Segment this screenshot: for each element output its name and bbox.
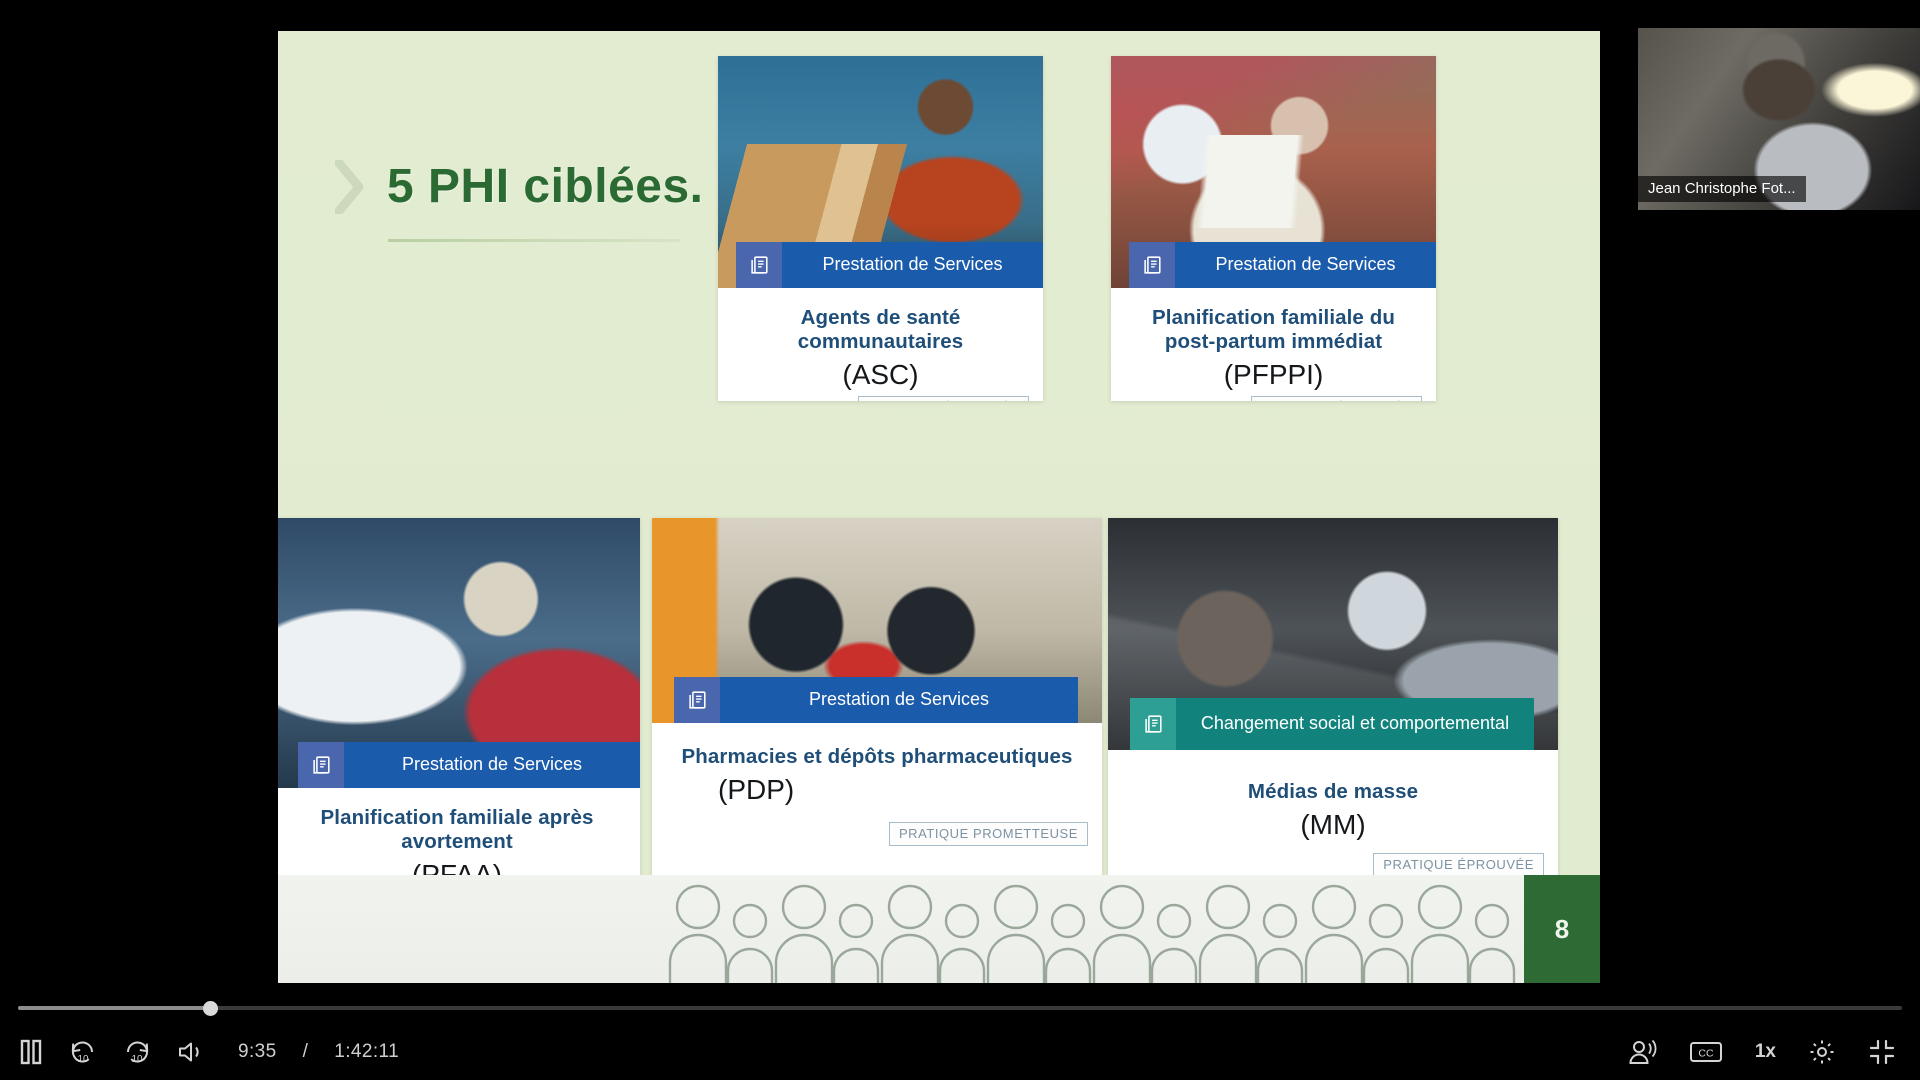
documents-icon <box>1129 242 1175 288</box>
card-photo: Prestation de Services <box>278 518 640 788</box>
card-tag-row: PRATIQUE PROMETTEUSE <box>666 822 1088 846</box>
card-category-badge: Prestation de Services <box>674 677 1078 723</box>
total-time: 1:42:11 <box>334 1041 399 1063</box>
video-player-stage: 5 PHI ciblées. Prestation de Services <box>0 0 1920 1080</box>
slide-title-row: 5 PHI ciblées. <box>335 159 704 214</box>
presentation-slide: 5 PHI ciblées. Prestation de Services <box>278 31 1600 983</box>
card-body: Pharmacies et dépôts pharmaceutiques (PD… <box>652 723 1102 856</box>
card-body: Médias de masse (MM) PRATIQUE ÉPROUVÉE <box>1108 750 1558 887</box>
status-badge: PRATIQUE ÉPROUVÉE <box>1251 396 1422 401</box>
presenter-audio-icon[interactable] <box>1627 1038 1657 1066</box>
svg-text:10: 10 <box>131 1054 143 1065</box>
player-right-controls: CC 1x <box>1627 1038 1896 1066</box>
card-category-label: Changement social et comportemental <box>1176 698 1534 750</box>
card-title: Planification familiale après avortement <box>288 806 626 854</box>
volume-icon[interactable] <box>176 1039 206 1065</box>
progress-handle[interactable] <box>203 1001 218 1016</box>
card-acronym: (PDP) <box>666 775 1088 806</box>
exit-fullscreen-icon[interactable] <box>1868 1038 1896 1066</box>
status-badge: PRATIQUE ÉPROUVÉE <box>1373 853 1544 877</box>
playback-speed-button[interactable]: 1x <box>1755 1041 1776 1063</box>
slide-number: 8 <box>1524 875 1600 983</box>
card-tag-row: PRATIQUE ÉPROUVÉE <box>1122 853 1544 877</box>
card-title: Agents de santé communautaires <box>732 306 1029 354</box>
card-category-badge: Prestation de Services <box>1129 242 1436 288</box>
card-photo: Changement social et comportemental <box>1108 518 1558 750</box>
status-badge: PRATIQUE ÉPROUVÉE <box>858 396 1029 401</box>
progress-scrubber[interactable] <box>18 1006 1902 1010</box>
forward-10-icon[interactable]: 10 <box>122 1038 152 1066</box>
card-category-badge: Prestation de Services <box>736 242 1043 288</box>
card-body: Agents de santé communautaires (ASC) PRA… <box>718 288 1043 401</box>
audience-illustration <box>668 875 1528 983</box>
card-category-label: Prestation de Services <box>782 242 1043 288</box>
documents-icon <box>1130 698 1176 750</box>
captions-button[interactable]: CC <box>1689 1040 1723 1064</box>
gear-icon[interactable] <box>1808 1038 1836 1066</box>
progress-track[interactable] <box>18 1006 1902 1010</box>
time-separator: / <box>303 1041 309 1063</box>
participant-video-tile[interactable]: Jean Christophe Fot... <box>1638 28 1920 210</box>
card-body: Planification familiale du post-partum i… <box>1111 288 1436 401</box>
participant-name-label: Jean Christophe Fot... <box>1638 176 1806 202</box>
card-title: Médias de masse <box>1122 780 1544 804</box>
card-category-badge: Prestation de Services <box>298 742 640 788</box>
card-photo: Prestation de Services <box>718 56 1043 288</box>
card-acronym: (PFPPI) <box>1125 360 1422 391</box>
chevron-right-icon <box>335 160 365 214</box>
card-photo: Prestation de Services <box>652 518 1102 723</box>
documents-icon <box>298 742 344 788</box>
documents-icon <box>736 242 782 288</box>
pause-icon[interactable] <box>18 1038 44 1066</box>
page-title: 5 PHI ciblées. <box>387 159 704 214</box>
card-tag-row: PRATIQUE ÉPROUVÉE <box>1125 396 1422 401</box>
player-left-controls: 10 10 9:35 / 1:42:11 <box>18 1038 399 1066</box>
card-category-label: Prestation de Services <box>1175 242 1436 288</box>
card-acronym: (ASC) <box>732 360 1029 391</box>
title-underline <box>388 239 680 242</box>
card-title: Planification familiale du post-partum i… <box>1125 306 1422 354</box>
svg-text:10: 10 <box>77 1054 89 1065</box>
card-title: Pharmacies et dépôts pharmaceutiques <box>666 745 1088 769</box>
current-time: 9:35 <box>238 1041 277 1063</box>
progress-fill <box>18 1006 210 1010</box>
card-category-label: Prestation de Services <box>344 742 640 788</box>
phi-card-pfppi[interactable]: Prestation de Services Planification fam… <box>1111 56 1436 401</box>
rewind-10-icon[interactable]: 10 <box>68 1038 98 1066</box>
status-badge: PRATIQUE PROMETTEUSE <box>889 822 1088 846</box>
documents-icon <box>674 677 720 723</box>
player-control-bar: 10 10 9:35 / 1:42:11 <box>0 990 1920 1080</box>
phi-card-asc[interactable]: Prestation de Services Agents de santé c… <box>718 56 1043 401</box>
card-photo: Prestation de Services <box>1111 56 1436 288</box>
slide-footer: 8 <box>278 875 1600 983</box>
card-tag-row: PRATIQUE ÉPROUVÉE <box>732 396 1029 401</box>
card-category-badge: Changement social et comportemental <box>1130 698 1534 750</box>
card-acronym: (MM) <box>1122 810 1544 841</box>
svg-text:CC: CC <box>1698 1048 1714 1060</box>
card-category-label: Prestation de Services <box>720 677 1078 723</box>
